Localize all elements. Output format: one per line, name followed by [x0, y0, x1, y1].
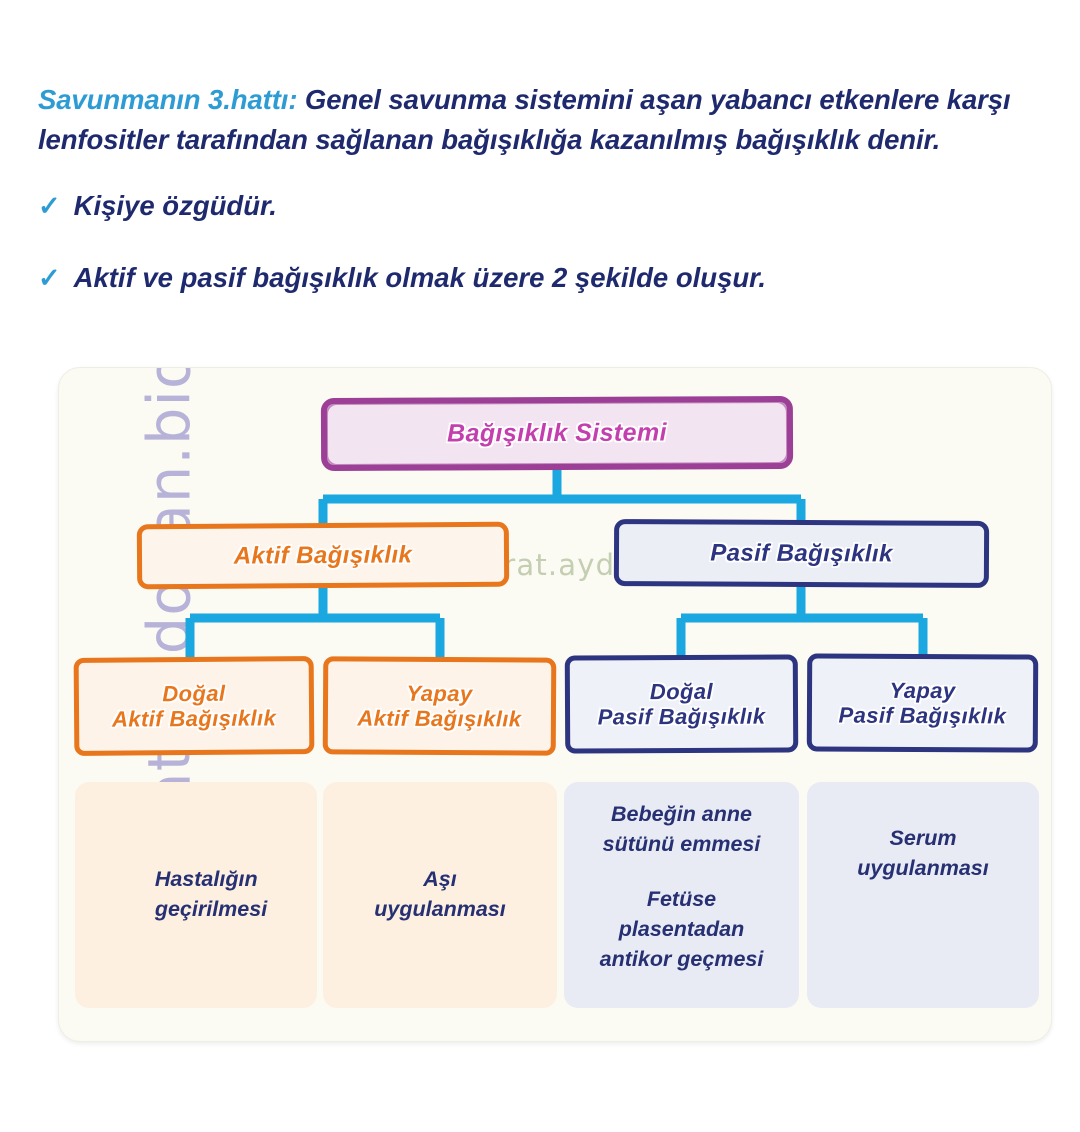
- node-label-line2: Aktif Bağışıklık: [357, 705, 521, 731]
- node-label: Aktif Bağışıklık: [234, 541, 413, 570]
- node-label: Pasif Bağışıklık: [710, 539, 893, 567]
- intro-text-block: Savunmanın 3.hattı: Genel savunma sistem…: [38, 52, 1038, 296]
- node-label-line1: Yapay: [889, 678, 955, 703]
- node-yapay-pasif-bagisiklik[interactable]: Yapay Pasif Bağışıklık: [807, 653, 1039, 752]
- example-text: Aşı uygulanması: [374, 865, 505, 924]
- example-text-b: Fetüse plasentadan antikor geçmesi: [600, 887, 764, 970]
- example-card-dogal-pasif: Bebeğin anne sütünü emmesi Fetüse plasen…: [564, 782, 799, 1008]
- bullet-item-1: ✓ Kişiye özgüdür.: [38, 188, 1038, 224]
- node-pasif-bagisiklik[interactable]: Pasif Bağışıklık: [614, 519, 989, 588]
- node-yapay-aktif-bagisiklik[interactable]: Yapay Aktif Bağışıklık: [323, 656, 557, 755]
- check-icon: ✓: [38, 193, 61, 220]
- lead-highlight: Savunmanın 3.hattı:: [38, 84, 297, 115]
- example-card-dogal-aktif: Hastalığın geçirilmesi: [75, 782, 317, 1008]
- example-text-group: Bebeğin anne sütünü emmesi Fetüse plasen…: [600, 800, 764, 974]
- check-icon: ✓: [38, 265, 61, 292]
- bullet-label-1: Kişiye özgüdür.: [74, 188, 277, 224]
- node-aktif-bagisiklik[interactable]: Aktif Bağışıklık: [137, 522, 509, 590]
- node-label: Yapay Aktif Bağışıklık: [357, 680, 521, 731]
- node-bagisiklik-sistemi[interactable]: Bağışıklık Sistemi: [321, 396, 793, 471]
- example-text: Serum uygulanması: [857, 824, 988, 883]
- node-dogal-aktif-bagisiklik[interactable]: Doğal Aktif Bağışıklık: [74, 656, 315, 756]
- node-label: Doğal Aktif Bağışıklık: [112, 680, 277, 731]
- node-label-line1: Doğal: [650, 679, 713, 704]
- node-label: Doğal Pasif Bağışıklık: [597, 678, 765, 729]
- example-text: Hastalığın geçirilmesi: [125, 865, 267, 924]
- node-label: Yapay Pasif Bağışıklık: [838, 677, 1006, 728]
- spacer: [600, 859, 764, 885]
- example-card-yapay-pasif: Serum uygulanması: [807, 782, 1039, 1008]
- bullet-item-2: ✓ Aktif ve pasif bağışıklık olmak üzere …: [38, 260, 1038, 296]
- node-dogal-pasif-bagisiklik[interactable]: Doğal Pasif Bağışıklık: [565, 654, 799, 753]
- node-label-line1: Yapay: [406, 681, 472, 706]
- example-text-a: Bebeğin anne sütünü emmesi: [603, 802, 761, 856]
- node-label: Bağışıklık Sistemi: [447, 419, 667, 448]
- node-label-line1: Doğal: [162, 681, 225, 706]
- node-label-line2: Aktif Bağışıklık: [112, 705, 276, 731]
- node-label-line2: Pasif Bağışıklık: [838, 703, 1006, 729]
- bullet-label-2: Aktif ve pasif bağışıklık olmak üzere 2 …: [74, 260, 766, 296]
- lead-paragraph: Savunmanın 3.hattı: Genel savunma sistem…: [38, 80, 1038, 161]
- node-label-line2: Pasif Bağışıklık: [598, 704, 766, 730]
- example-card-yapay-aktif: Aşı uygulanması: [323, 782, 557, 1008]
- immunity-diagram-panel: @murat.aydogan.bio @murat.aydogan.bio Ba…: [58, 367, 1052, 1042]
